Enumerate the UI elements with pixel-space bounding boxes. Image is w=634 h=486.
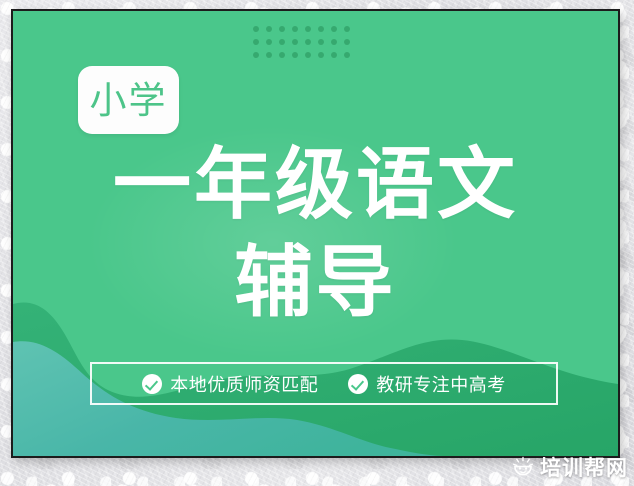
site-watermark-text: 培训帮网 (540, 452, 628, 482)
feature-item: 教研专注中高考 (348, 371, 506, 397)
grid-dot (266, 39, 272, 45)
poster-title-line-2: 辅导 (13, 243, 618, 321)
grid-dot (253, 26, 259, 32)
feature-list: 本地优质师资匹配 教研专注中高考 (90, 362, 558, 405)
grid-dot (279, 39, 285, 45)
grid-dot (344, 52, 350, 58)
grid-dot (292, 39, 298, 45)
promo-poster-card: 小学 一年级语文 辅导 本地优质师资匹配 教研专注中高考 (11, 9, 620, 458)
grid-dot (305, 39, 311, 45)
feature-item-label: 教研专注中高考 (376, 371, 506, 397)
grid-dot (331, 52, 337, 58)
grid-dot (331, 26, 337, 32)
feature-item-label: 本地优质师资匹配 (170, 371, 318, 397)
grid-dot (279, 52, 285, 58)
site-watermark: 培训帮网 (512, 452, 628, 482)
check-circle-icon (348, 374, 368, 394)
sun-face-icon (512, 456, 534, 478)
dot-grid-icon (253, 26, 357, 65)
check-circle-icon (142, 374, 162, 394)
grid-dot (266, 52, 272, 58)
grade-level-badge-label: 小学 (90, 82, 168, 119)
poster-title-line-1: 一年级语文 (13, 145, 618, 223)
grid-dot (279, 26, 285, 32)
grid-dot (331, 39, 337, 45)
grid-dot (344, 39, 350, 45)
grid-dot (318, 52, 324, 58)
grid-dot (305, 26, 311, 32)
grid-dot (292, 26, 298, 32)
grid-dot (253, 52, 259, 58)
grade-level-badge: 小学 (78, 66, 179, 134)
grid-dot (305, 52, 311, 58)
grid-dot (318, 26, 324, 32)
feature-item: 本地优质师资匹配 (142, 371, 318, 397)
grid-dot (292, 52, 298, 58)
grid-dot (253, 39, 259, 45)
grid-dot (344, 26, 350, 32)
grid-dot (266, 26, 272, 32)
grid-dot (318, 39, 324, 45)
